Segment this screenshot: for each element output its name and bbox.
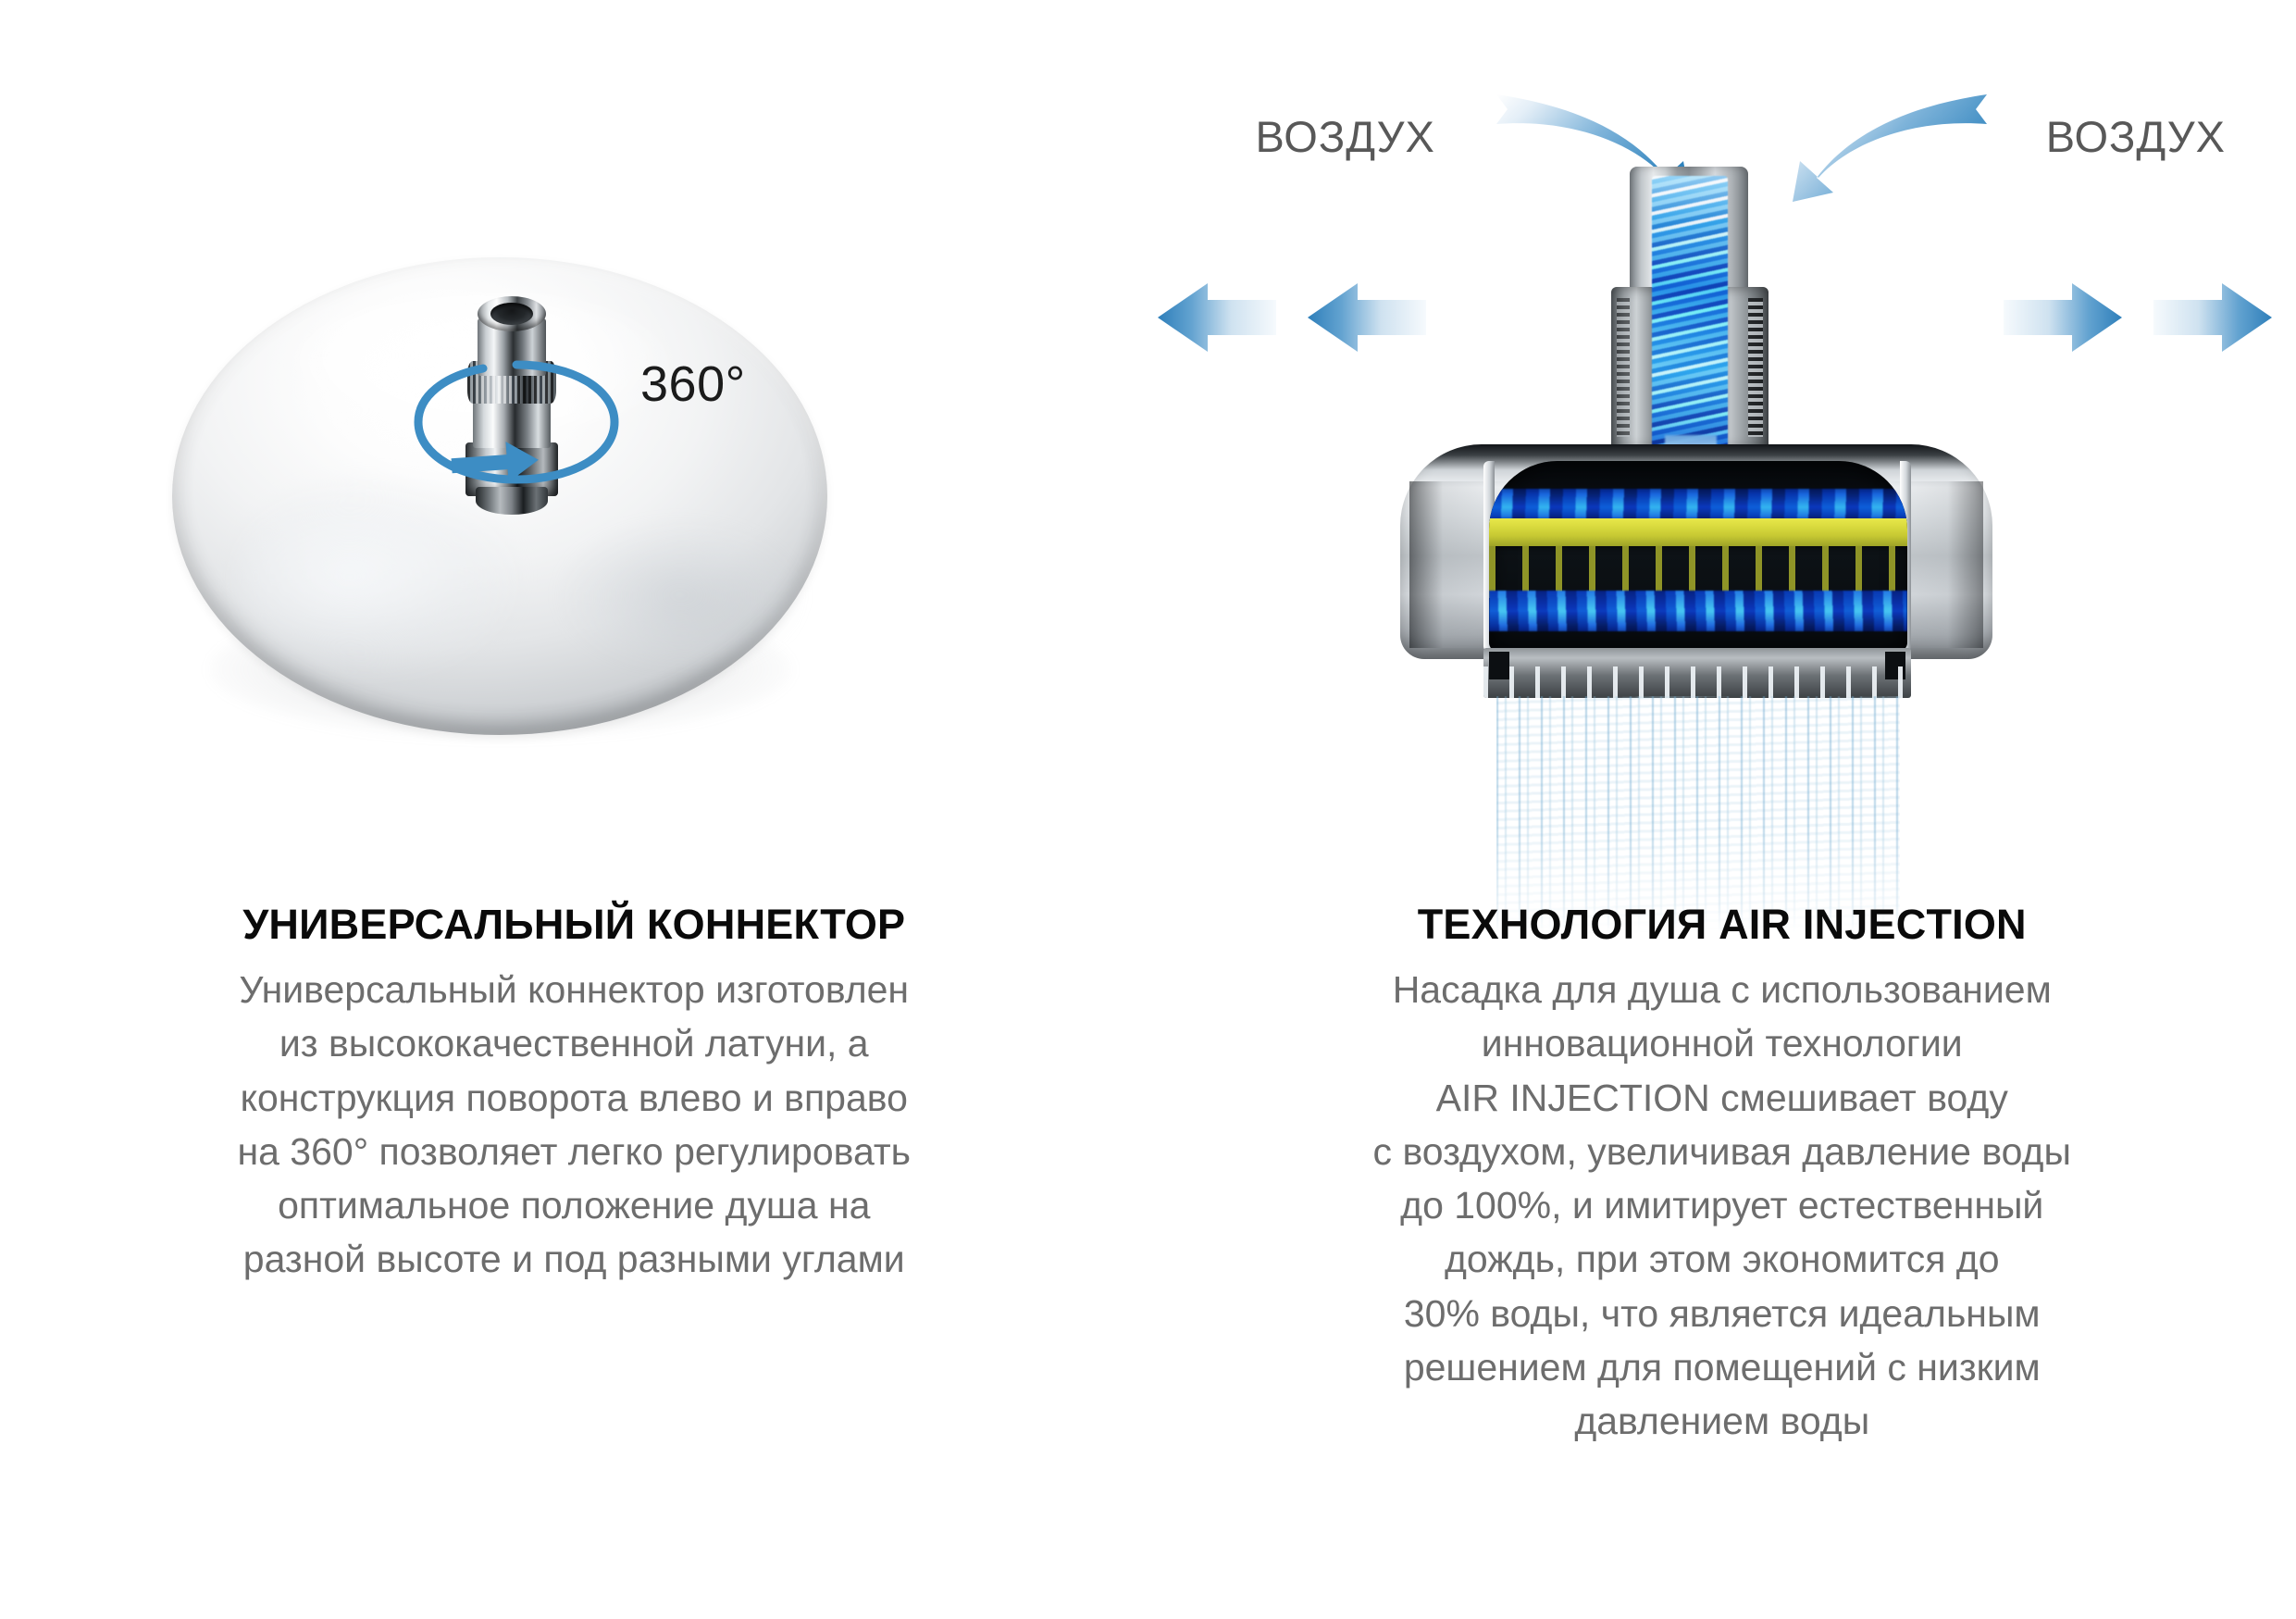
body-line: Насадка для душа с использованием	[1260, 963, 2186, 1016]
body-line: решением для помещений с низким	[1260, 1340, 2186, 1394]
body-line: AIR INJECTION смешивает воду	[1260, 1071, 2186, 1125]
body-line: инновационной технологии	[1260, 1016, 2186, 1070]
air-arrow-right-outer-icon	[2153, 278, 2276, 357]
universal-connector-figure: 360°	[0, 0, 1148, 889]
body-line: из высококачественной латуни, а	[111, 1016, 1037, 1070]
air-label-left: ВОЗДУХ	[1256, 111, 1435, 162]
infographic-page: 360° УНИВЕРСАЛЬНЫЙ КОННЕКТОР Универсальн…	[0, 0, 2296, 1619]
air-injection-figure: ВОЗДУХ ВОЗДУХ	[1148, 0, 2296, 889]
nozzle-cap-right	[1885, 652, 1905, 679]
air-arrow-right-inner-icon	[2004, 278, 2126, 357]
body-line: давлением воды	[1260, 1394, 2186, 1448]
right-body: Насадка для душа с использованием иннова…	[1260, 963, 2186, 1448]
left-panel: 360° УНИВЕРСАЛЬНЫЙ КОННЕКТОР Универсальн…	[0, 0, 1148, 1619]
right-text-block: ТЕХНОЛОГИЯ AIR INJECTION Насадка для душ…	[1148, 903, 2296, 1448]
body-line: разной высоте и под разными углами	[111, 1232, 1037, 1286]
left-text-block: УНИВЕРСАЛЬНЫЙ КОННЕКТОР Универсальный ко…	[0, 903, 1148, 1287]
left-body: Универсальный коннектор изготовлен из вы…	[111, 963, 1037, 1286]
diffuser-plate	[1489, 518, 1907, 546]
body-line: на 360° позволяет легко регулировать	[111, 1125, 1037, 1178]
shower-head-disc: 360°	[167, 248, 833, 766]
swirling-water-column	[1652, 176, 1728, 454]
rotation-arrow-icon	[409, 352, 624, 492]
aerated-water-lower-layer	[1489, 591, 1907, 631]
nozzle-face-plate	[1483, 648, 1911, 698]
aerated-water-upper-layer	[1489, 489, 1907, 522]
interior-chamber	[1489, 461, 1907, 652]
nozzle-cap-left	[1489, 652, 1509, 679]
cutaway-shower-head	[1400, 167, 1992, 741]
rotation-degree-label: 360°	[640, 355, 746, 413]
connector-bore	[490, 303, 533, 325]
air-label-right: ВОЗДУХ	[2046, 111, 2226, 162]
body-line: оптимальное положение душа на	[111, 1178, 1037, 1232]
body-line: конструкция поворота влево и вправо	[111, 1071, 1037, 1125]
water-spray	[1496, 696, 1900, 933]
air-arrow-left-outer-icon	[1154, 278, 1276, 357]
body-line: 30% воды, что является идеальным	[1260, 1287, 2186, 1340]
body-line: Универсальный коннектор изготовлен	[111, 963, 1037, 1016]
body-line: до 100%, и имитирует естественный	[1260, 1178, 2186, 1232]
disc-reflection-right	[565, 526, 796, 665]
right-panel: ВОЗДУХ ВОЗДУХ	[1148, 0, 2296, 1619]
body-line: с воздухом, увеличивая давление воды	[1260, 1125, 2186, 1178]
right-heading: ТЕХНОЛОГИЯ AIR INJECTION	[1260, 903, 2186, 946]
body-line: дождь, при этом экономится до	[1260, 1232, 2186, 1286]
left-heading: УНИВЕРСАЛЬНЫЙ КОННЕКТОР	[111, 903, 1037, 946]
